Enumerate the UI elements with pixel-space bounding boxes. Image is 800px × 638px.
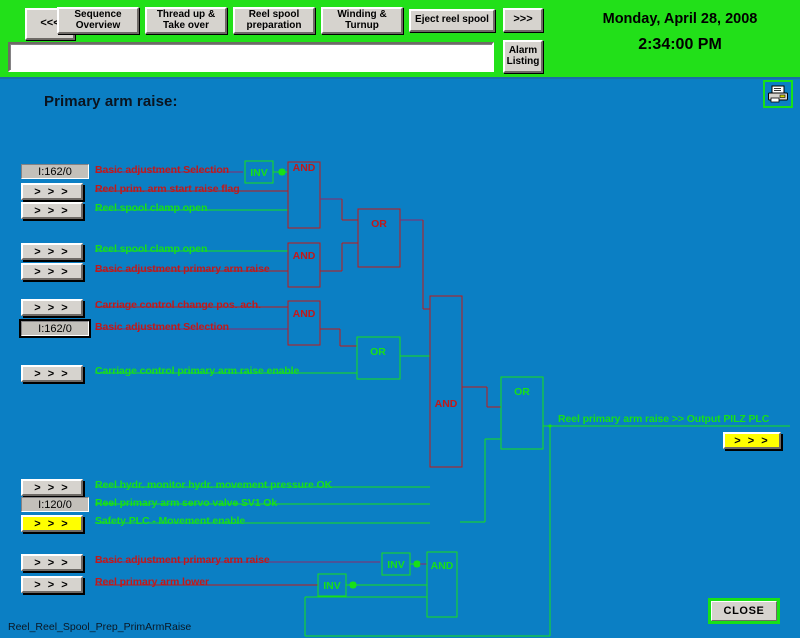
tag-button-row-1[interactable]: > > > [21,183,83,200]
tag-button-row-7[interactable]: > > > [21,365,83,382]
nav-button-winding-turnup[interactable]: Winding & Turnup [321,7,403,34]
close-button[interactable]: CLOSE [708,598,780,624]
time-text: 2:34:00 PM [565,36,795,54]
signal-label-row-11: Basic adjustment primary arm raise [95,554,270,566]
signal-label-row-3: Reel spool clamp open [95,243,207,255]
signal-label-row-2: Reel spool clamp open [95,202,207,214]
signal-label-row-9: Reel primary arm servo valve SV1 Ok [95,497,277,509]
output-tag-button[interactable]: > > > [723,432,781,449]
signal-label-row-8: Reel hydr. monitor hydr. movement pressu… [95,479,332,491]
nav-button-thread-up-take-over[interactable]: Thread up & Take over [145,7,227,34]
tag-button-row-10[interactable]: > > > [21,515,83,532]
tag-button-row-11[interactable]: > > > [21,554,83,571]
screen-id-label: Reel_Reel_Spool_Prep_PrimArmRaise [8,621,191,633]
signal-label-row-12: Reel primary arm lower [95,576,209,588]
svg-text:AND: AND [293,308,316,320]
tag-button-row-5[interactable]: > > > [21,299,83,316]
close-button-label: CLOSE [711,601,777,621]
tag-button-row-12[interactable]: > > > [21,576,83,593]
header-bar: <<< Sequence Overview Thread up & Take o… [0,0,800,79]
tag-display-row-9[interactable]: I:120/0 [21,497,89,512]
svg-text:OR: OR [371,218,387,230]
svg-text:OR: OR [514,386,530,398]
alarm-listing-button[interactable]: Alarm Listing [503,40,543,73]
svg-text:AND: AND [431,560,454,572]
date-time-display: Monday, April 28, 2008 2:34:00 PM [565,8,795,70]
signal-label-row-1: Reel prim. arm start raise flag [95,183,240,195]
svg-text:INV: INV [323,580,341,592]
signal-label-row-4: Basic adjustment primary arm raise [95,263,270,275]
signal-label-row-5: Carriage control change pos. ach. [95,299,261,311]
tag-display-row-6[interactable]: I:162/0 [21,321,89,336]
svg-text:AND: AND [293,162,316,174]
nav-button-eject-reel-spool[interactable]: Eject reel spool [409,9,495,32]
signal-label-row-0: Basic adjustment Selection [95,164,229,176]
hmi-screen: <<< Sequence Overview Thread up & Take o… [0,0,800,638]
svg-text:INV: INV [250,167,268,179]
alarm-message-input[interactable] [8,42,494,72]
svg-text:AND: AND [435,398,458,410]
svg-text:OR: OR [370,346,386,358]
tag-button-row-4[interactable]: > > > [21,263,83,280]
svg-text:INV: INV [387,559,405,571]
signal-label-row-7: Carriage control primary arm raise enabl… [95,365,299,377]
tag-button-row-2[interactable]: > > > [21,202,83,219]
tag-display-row-0[interactable]: I:162/0 [21,164,89,179]
nav-button-sequence-overview[interactable]: Sequence Overview [57,7,139,34]
output-signal-label: Reel primary arm raise >> Output PILZ PL… [558,413,769,425]
tag-button-row-3[interactable]: > > > [21,243,83,260]
nav-forward-button[interactable]: >>> [503,8,543,32]
nav-button-reel-spool-preparation[interactable]: Reel spool preparation [233,7,315,34]
date-text: Monday, April 28, 2008 [565,11,795,27]
signal-label-row-10: Safety PLC - Movement enable [95,515,245,527]
signal-label-row-6: Basic adjustment Selection [95,321,229,333]
svg-text:AND: AND [293,250,316,262]
logic-diagram-panel: Primary arm raise: INV [0,79,800,638]
tag-button-row-8[interactable]: > > > [21,479,83,496]
